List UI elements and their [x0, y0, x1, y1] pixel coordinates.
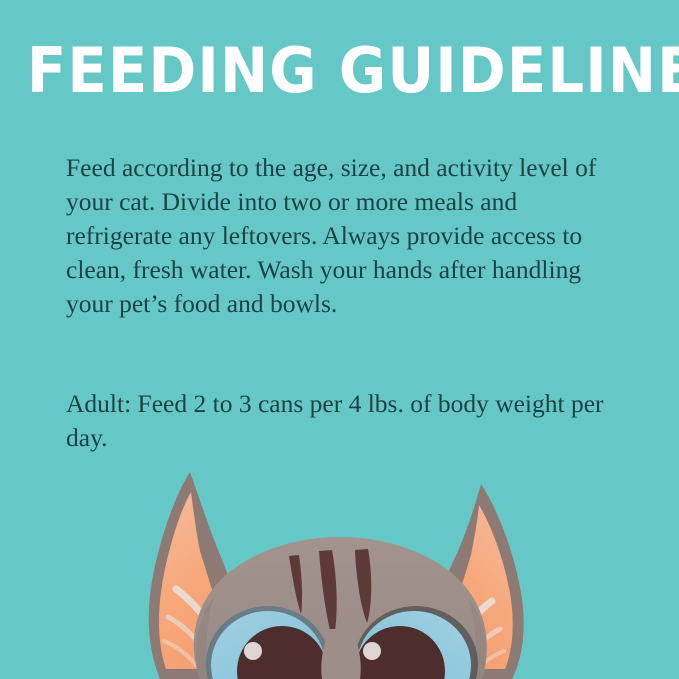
feeding-instructions: Feed according to the age, size, and act… [66, 151, 611, 455]
nose-bridge [321, 629, 360, 679]
cat-face-illustration [0, 459, 679, 679]
page-title: FEEDING GUIDELINES [27, 40, 679, 102]
general-instructions-paragraph: Feed according to the age, size, and act… [66, 151, 611, 321]
feeding-guidelines-panel: FEEDING GUIDELINES Feed according to the… [0, 0, 679, 679]
right-eye-glint [363, 642, 381, 660]
page-title-container: FEEDING GUIDELINES [0, 40, 679, 102]
cat-face-svg [0, 459, 679, 679]
left-eye-glint [244, 642, 262, 660]
adult-feeding-amount-paragraph: Adult: Feed 2 to 3 cans per 4 lbs. of bo… [66, 387, 611, 455]
